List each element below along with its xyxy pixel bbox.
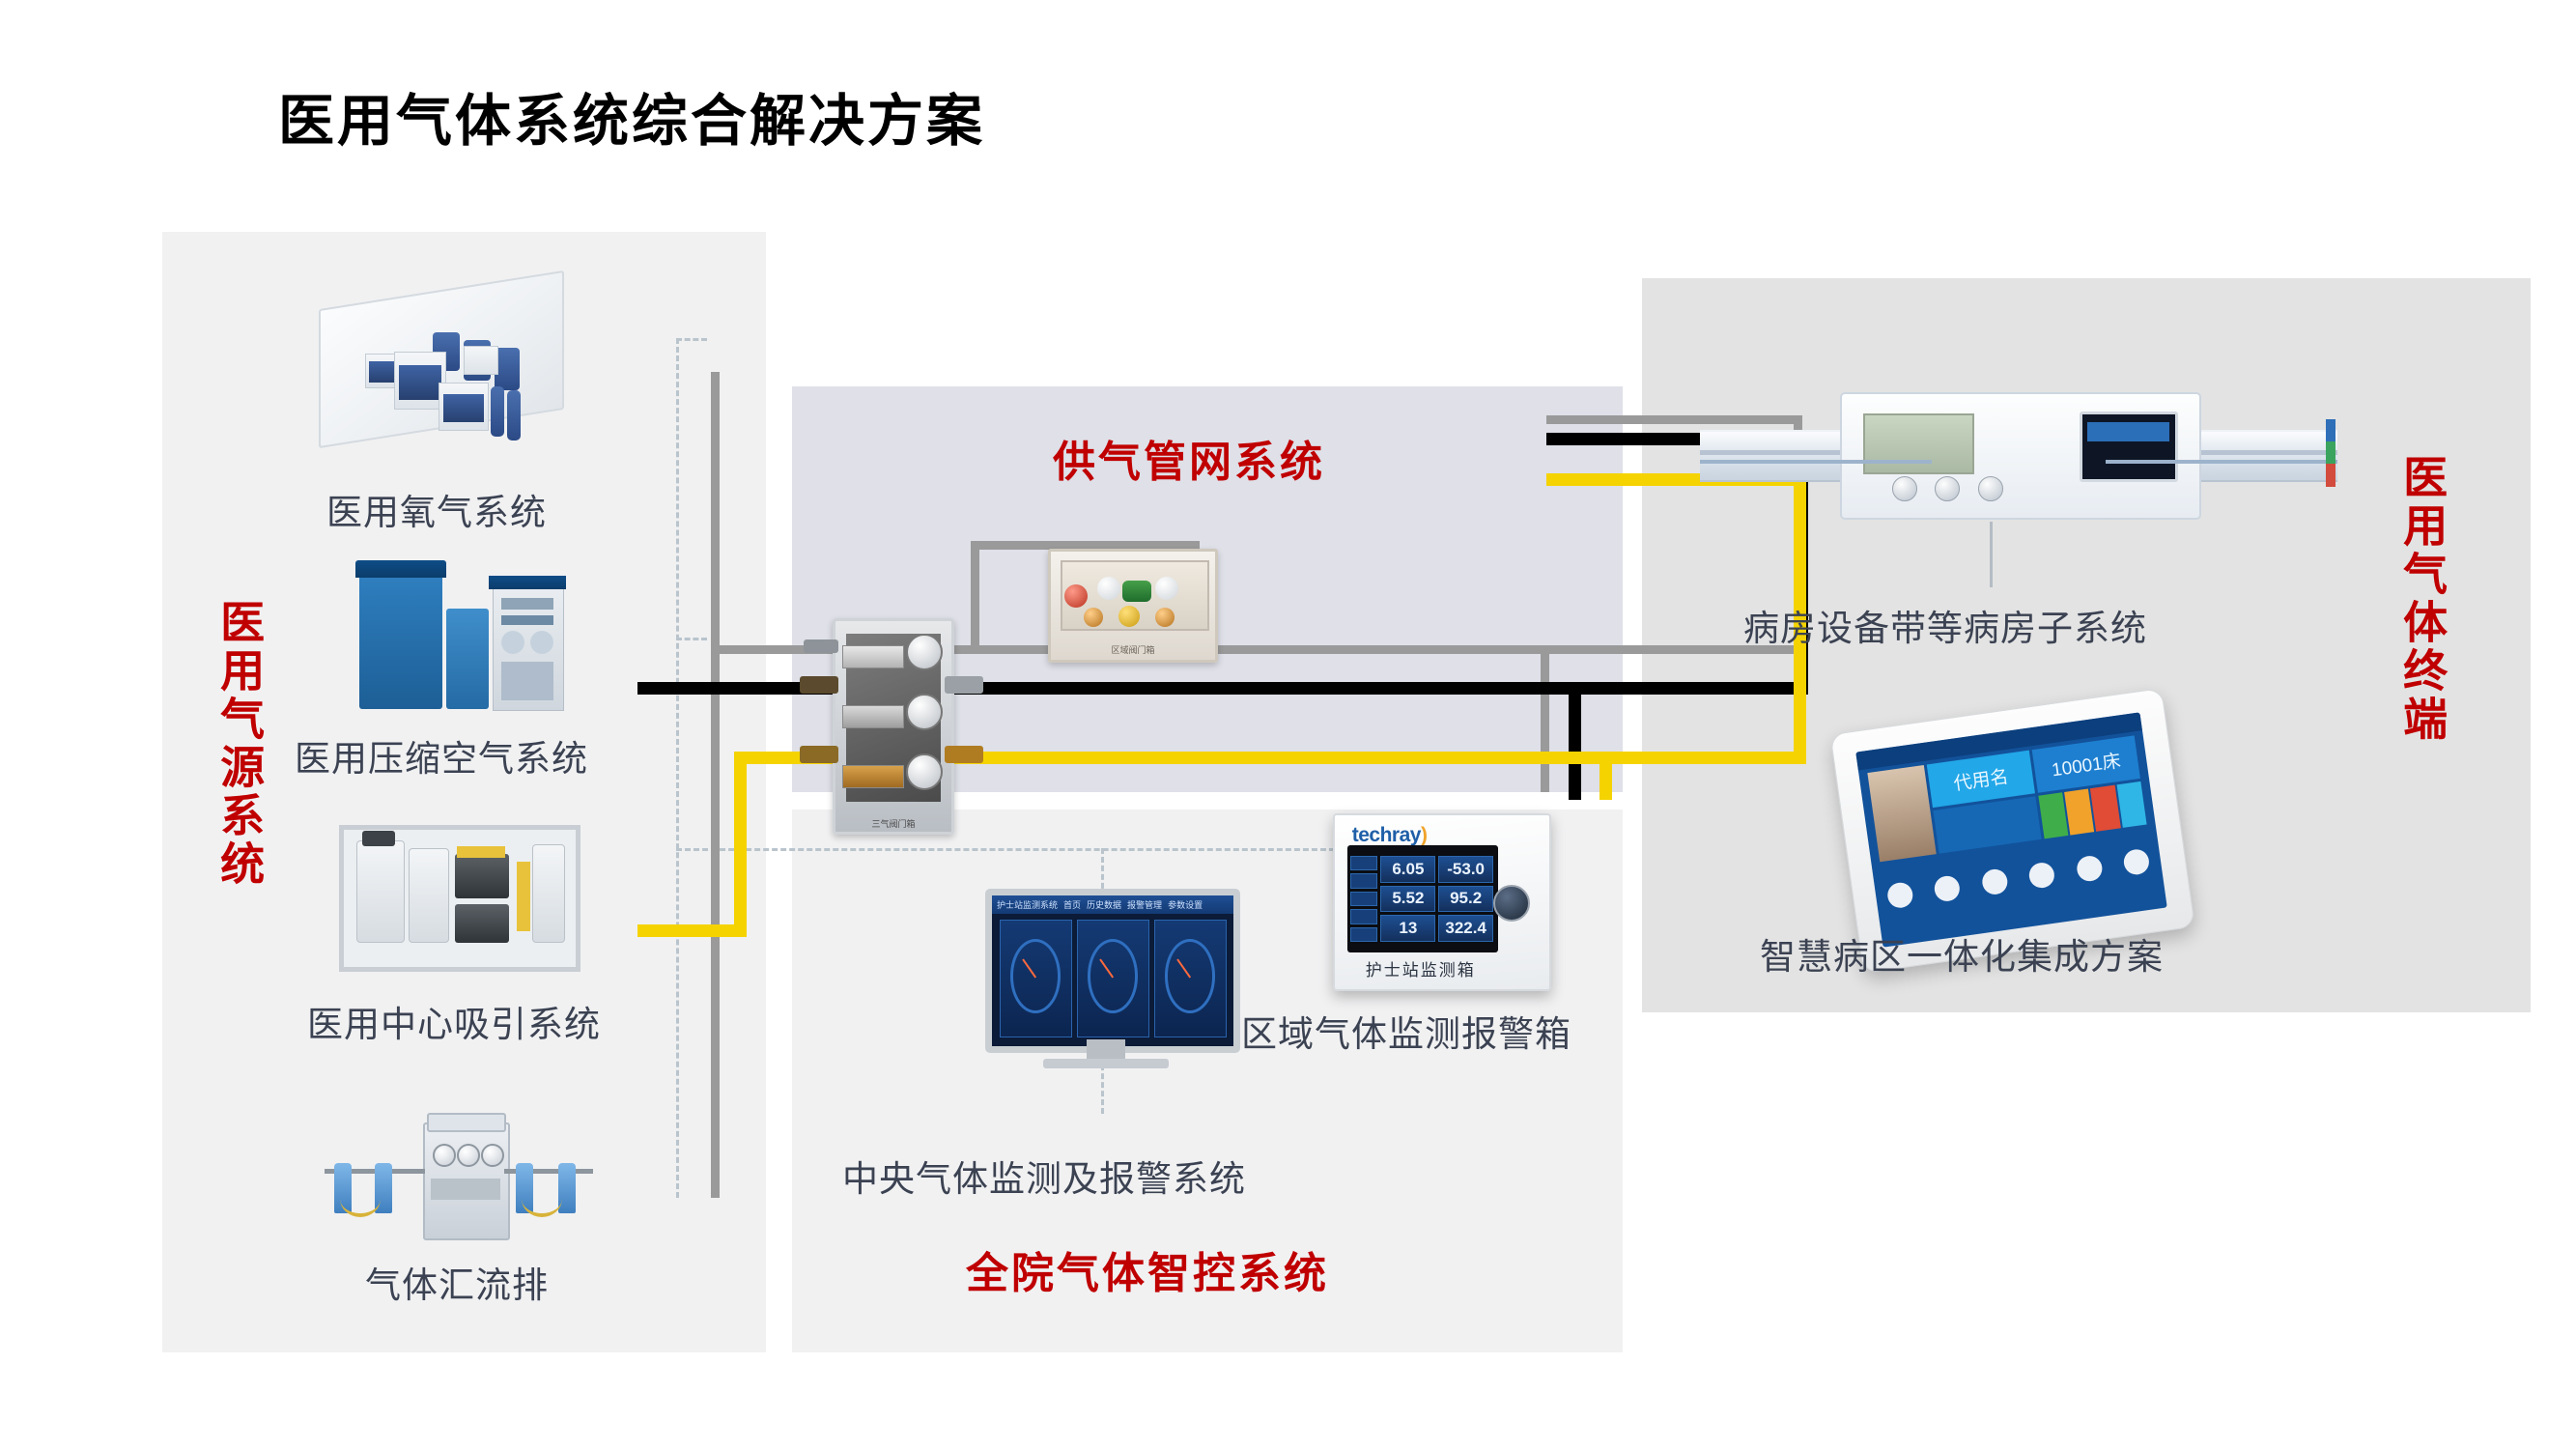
tablet-icon-volume[interactable]: [1980, 867, 2008, 895]
monitor-tab-2[interactable]: 报警管理: [1127, 898, 1162, 911]
valve-box-connector-black-out: [945, 676, 983, 694]
vacuum-pump-skid-icon: [333, 811, 584, 976]
bhu-drop-cable: [1990, 522, 1993, 587]
three-gas-valve-box-caption: 三气阀门箱: [835, 817, 951, 830]
control-item-label-zone-alarm: 区域气体监测报警箱: [1241, 1005, 1571, 1057]
monitor-stand-neck: [1087, 1039, 1125, 1059]
terminal-item-label-smart-ward: 智慧病区一体化集成方案: [1760, 927, 2164, 980]
wall-alarm-box-icon: techray) 6.05 -53.0 5.52 95.2 13 322.4 护…: [1333, 813, 1551, 991]
bhu-knob-2[interactable]: [1935, 476, 1960, 501]
valve-box-connector-gray-in: [804, 639, 838, 653]
bhu-stripe-left: [1700, 460, 1932, 464]
source-item-label-vacuum: 医用中心吸引系统: [307, 995, 601, 1047]
desktop-monitor-icon: 护士站监测系统 首页 历史数据 报警管理 参数设置: [985, 889, 1227, 1082]
terminal-zone-label: 医用气体终端: [2395, 454, 2449, 744]
zone-valve-panel: 区域阀门箱: [1048, 549, 1218, 663]
tablet-icon-gear[interactable]: [2122, 847, 2150, 875]
oxygen-pipe-drop: [1569, 682, 1581, 800]
monitor-tab-0[interactable]: 首页: [1063, 898, 1081, 911]
valve-box-connector-yellow-in: [800, 746, 838, 763]
zone-valve-knob-red: [1064, 584, 1088, 608]
tablet-icon-play[interactable]: [1933, 874, 1961, 902]
tablet-icon-call[interactable]: [2075, 854, 2103, 882]
zone-valve-knob-white2: [1155, 577, 1178, 600]
source-item-label-air: 医用压缩空气系统: [295, 729, 588, 781]
vacuum-pipe-riser-mid: [1541, 645, 1549, 792]
oxygen-container-plant-icon: [319, 290, 570, 454]
gas-manifold-rack-icon: [319, 1111, 599, 1256]
alarm-box-brand: techray): [1352, 824, 1428, 847]
alarm-box-screen: 6.05 -53.0 5.52 95.2 13 322.4: [1347, 845, 1497, 953]
air-compressor-cabinet-icon: [338, 558, 580, 718]
valve-box-connector-black-in: [800, 676, 838, 694]
zone-valve-knob-amber2: [1155, 608, 1175, 627]
alarm-reading-1: -53.0: [1438, 856, 1493, 883]
zone-valve-knob-green: [1122, 581, 1151, 602]
alarm-reading-0: 6.05: [1380, 856, 1435, 883]
tablet-icon-heart[interactable]: [2027, 861, 2055, 889]
control-item-label-central: 中央气体监测及报警系统: [842, 1150, 1246, 1202]
signal-line-source-top-stub: [676, 338, 707, 341]
alarm-reading-5: 322.4: [1438, 915, 1493, 942]
monitor-gauge-oxygen: [1000, 920, 1072, 1037]
monitor-tab-3[interactable]: 参数设置: [1168, 898, 1203, 911]
air-pipe-down-left: [734, 752, 747, 937]
signal-line-source-vertical: [676, 338, 679, 1198]
alarm-box-knob[interactable]: [1493, 885, 1530, 922]
tablet-icon-chat[interactable]: [1886, 881, 1914, 909]
vacuum-pipe-valvebox-link: [971, 541, 979, 649]
monitor-stand-foot: [1043, 1059, 1169, 1068]
bhu-knob-3[interactable]: [1978, 476, 2003, 501]
alarm-reading-3: 95.2: [1438, 886, 1493, 913]
signal-line-to-control-box: [676, 848, 1352, 851]
zone-valve-knob-yellow: [1118, 606, 1140, 627]
zone-valve-panel-caption: 区域阀门箱: [1051, 643, 1215, 656]
vacuum-pipe-vertical-left: [711, 372, 720, 1198]
terminal-item-label-bhu: 病房设备带等病房子系统: [1743, 599, 2147, 651]
alarm-reading-4: 13: [1380, 915, 1435, 942]
valve-box-connector-yellow-out: [945, 746, 983, 763]
page-title: 医用气体系统综合解决方案: [278, 75, 985, 156]
air-pipe-drop: [1599, 752, 1612, 800]
pipe-network-zone-label: 供气管网系统: [1053, 427, 1325, 489]
bhu-digital-display: [2080, 412, 2178, 482]
source-item-label-manifold: 气体汇流排: [365, 1256, 549, 1308]
air-pipe-bottom-stub: [637, 924, 747, 937]
bhu-stripe-right: [2106, 460, 2337, 464]
source-item-label-oxygen: 医用氧气系统: [326, 483, 547, 535]
bhu-knob-1[interactable]: [1892, 476, 1917, 501]
zone-valve-knob-amber: [1084, 608, 1103, 627]
bhu-outlet-marks: [2326, 419, 2335, 487]
monitor-gauge-vacuum: [1154, 920, 1227, 1037]
bhu-display-panel: [1863, 413, 1974, 474]
monitor-gauge-air: [1077, 920, 1149, 1037]
monitor-tab-1[interactable]: 历史数据: [1087, 898, 1121, 911]
control-zone-label: 全院气体智控系统: [966, 1238, 1329, 1300]
alarm-box-caption: 护士站监测箱: [1344, 956, 1498, 980]
tablet-avatar: [1867, 765, 1936, 863]
signal-line-source-mid-stub: [676, 638, 707, 640]
three-gas-valve-box: 三气阀门箱: [833, 618, 954, 835]
zone-valve-knob-white1: [1097, 577, 1120, 600]
gas-source-zone-label: 医用气源系统: [212, 599, 267, 889]
bed-head-unit-icon: [1700, 386, 2337, 522]
monitor-title: 护士站监测系统: [997, 898, 1058, 911]
alarm-reading-2: 5.52: [1380, 886, 1435, 913]
